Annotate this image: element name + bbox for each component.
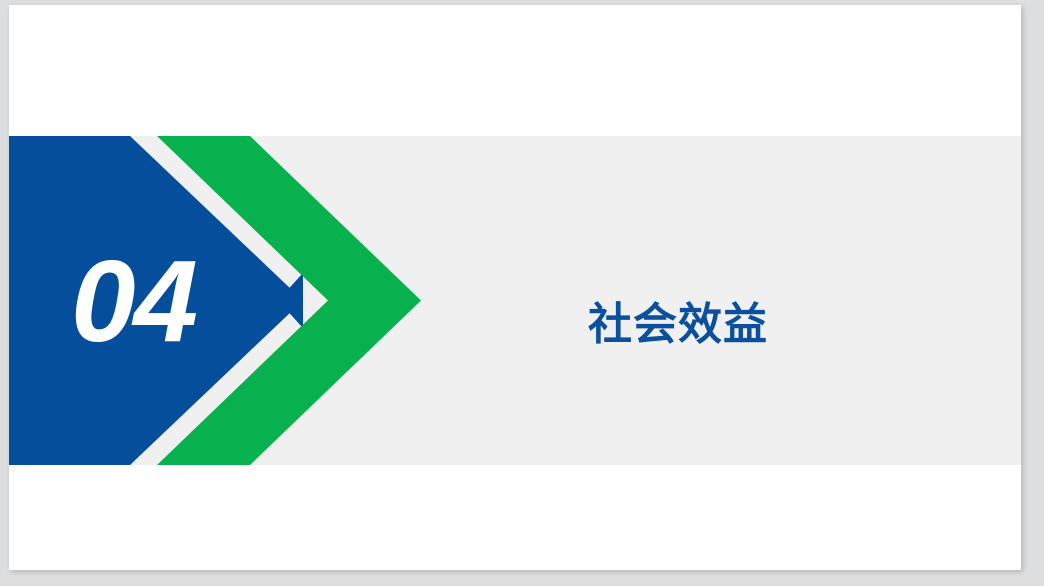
double-chevron-graphic: [9, 136, 459, 465]
section-title: 社会效益: [588, 292, 768, 358]
section-title-text: 社会效益: [588, 303, 768, 347]
slide-viewport: 04 社会效益: [0, 0, 1044, 586]
slide-canvas: 04 社会效益: [9, 5, 1021, 570]
